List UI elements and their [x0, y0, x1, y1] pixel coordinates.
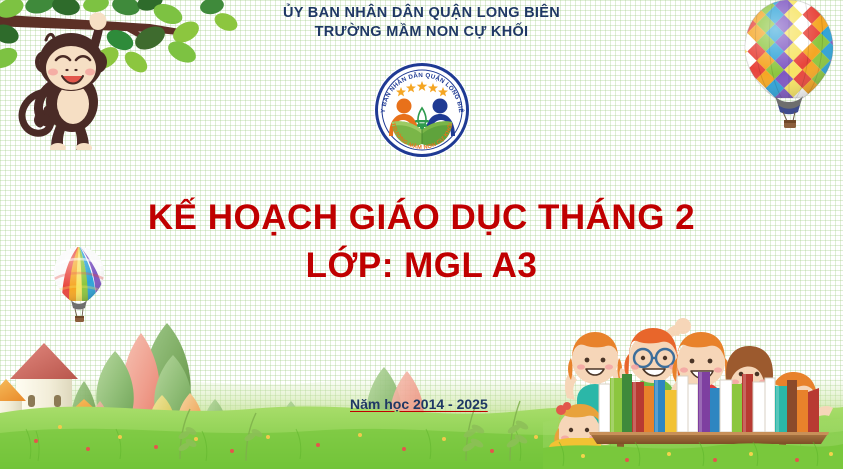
header-line-1: ỦY BAN NHÂN DÂN QUẬN LONG BIÊN	[0, 4, 843, 23]
slide-canvas: ỦY BAN NHÂN DÂN QUẬN LONG BIÊN TRƯỜNG MẦ…	[0, 0, 843, 469]
page-title-line-1: KẾ HOẠCH GIÁO DỤC THÁNG 2	[0, 198, 843, 238]
school-emblem: ỦY BAN NHÂN DÂN QUẬN LONG BIÊN	[367, 58, 477, 163]
header-line-2: TRƯỜNG MẦM NON CỰ KHỐI	[0, 23, 843, 42]
page-title-line-2: LỚP: MGL A3	[0, 246, 843, 286]
school-year-label: Năm học 2014 - 2025	[350, 396, 488, 412]
children-with-books	[543, 314, 843, 469]
organization-header: ỦY BAN NHÂN DÂN QUẬN LONG BIÊN TRƯỜNG MẦ…	[0, 4, 843, 42]
